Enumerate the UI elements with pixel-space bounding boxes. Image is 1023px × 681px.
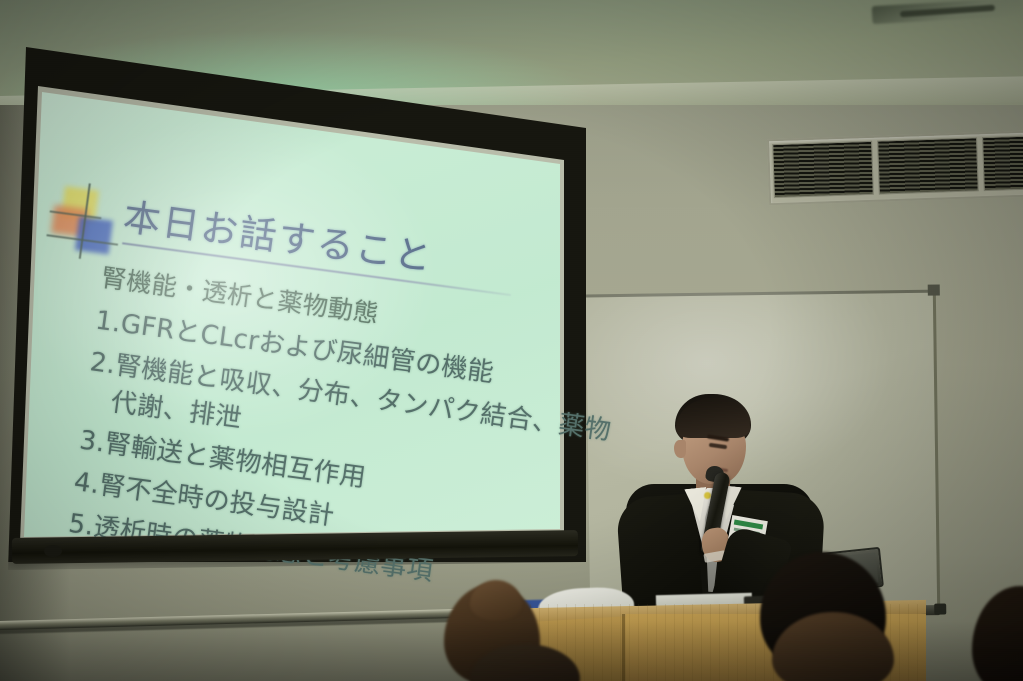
screen-roller-end-cap: [44, 545, 62, 557]
slide-logo-icon: [49, 183, 119, 259]
lecture-photo: 本日お話すること 腎機能・透析と薬物動態 1.GFRとCLcrおよび尿細管の機能…: [0, 0, 1023, 681]
whiteboard-corner-bracket: [928, 285, 940, 296]
slide-content: 本日お話すること 腎機能・透析と薬物動態 1.GFRとCLcrおよび尿細管の機能…: [0, 104, 560, 588]
projection-screen: 本日お話すること 腎機能・透析と薬物動態 1.GFRとCLcrおよび尿細管の機能…: [8, 42, 594, 582]
vent-louvers-section: [982, 135, 1023, 191]
presenter-ear: [674, 440, 686, 458]
vent-louvers-section: [772, 141, 874, 198]
vent-louvers-section: [877, 137, 979, 194]
whiteboard-tray-end-cap: [934, 603, 946, 614]
podium-corner-edge: [622, 614, 625, 681]
air-vent: [767, 131, 1023, 206]
audience-hair-bun: [470, 580, 522, 620]
